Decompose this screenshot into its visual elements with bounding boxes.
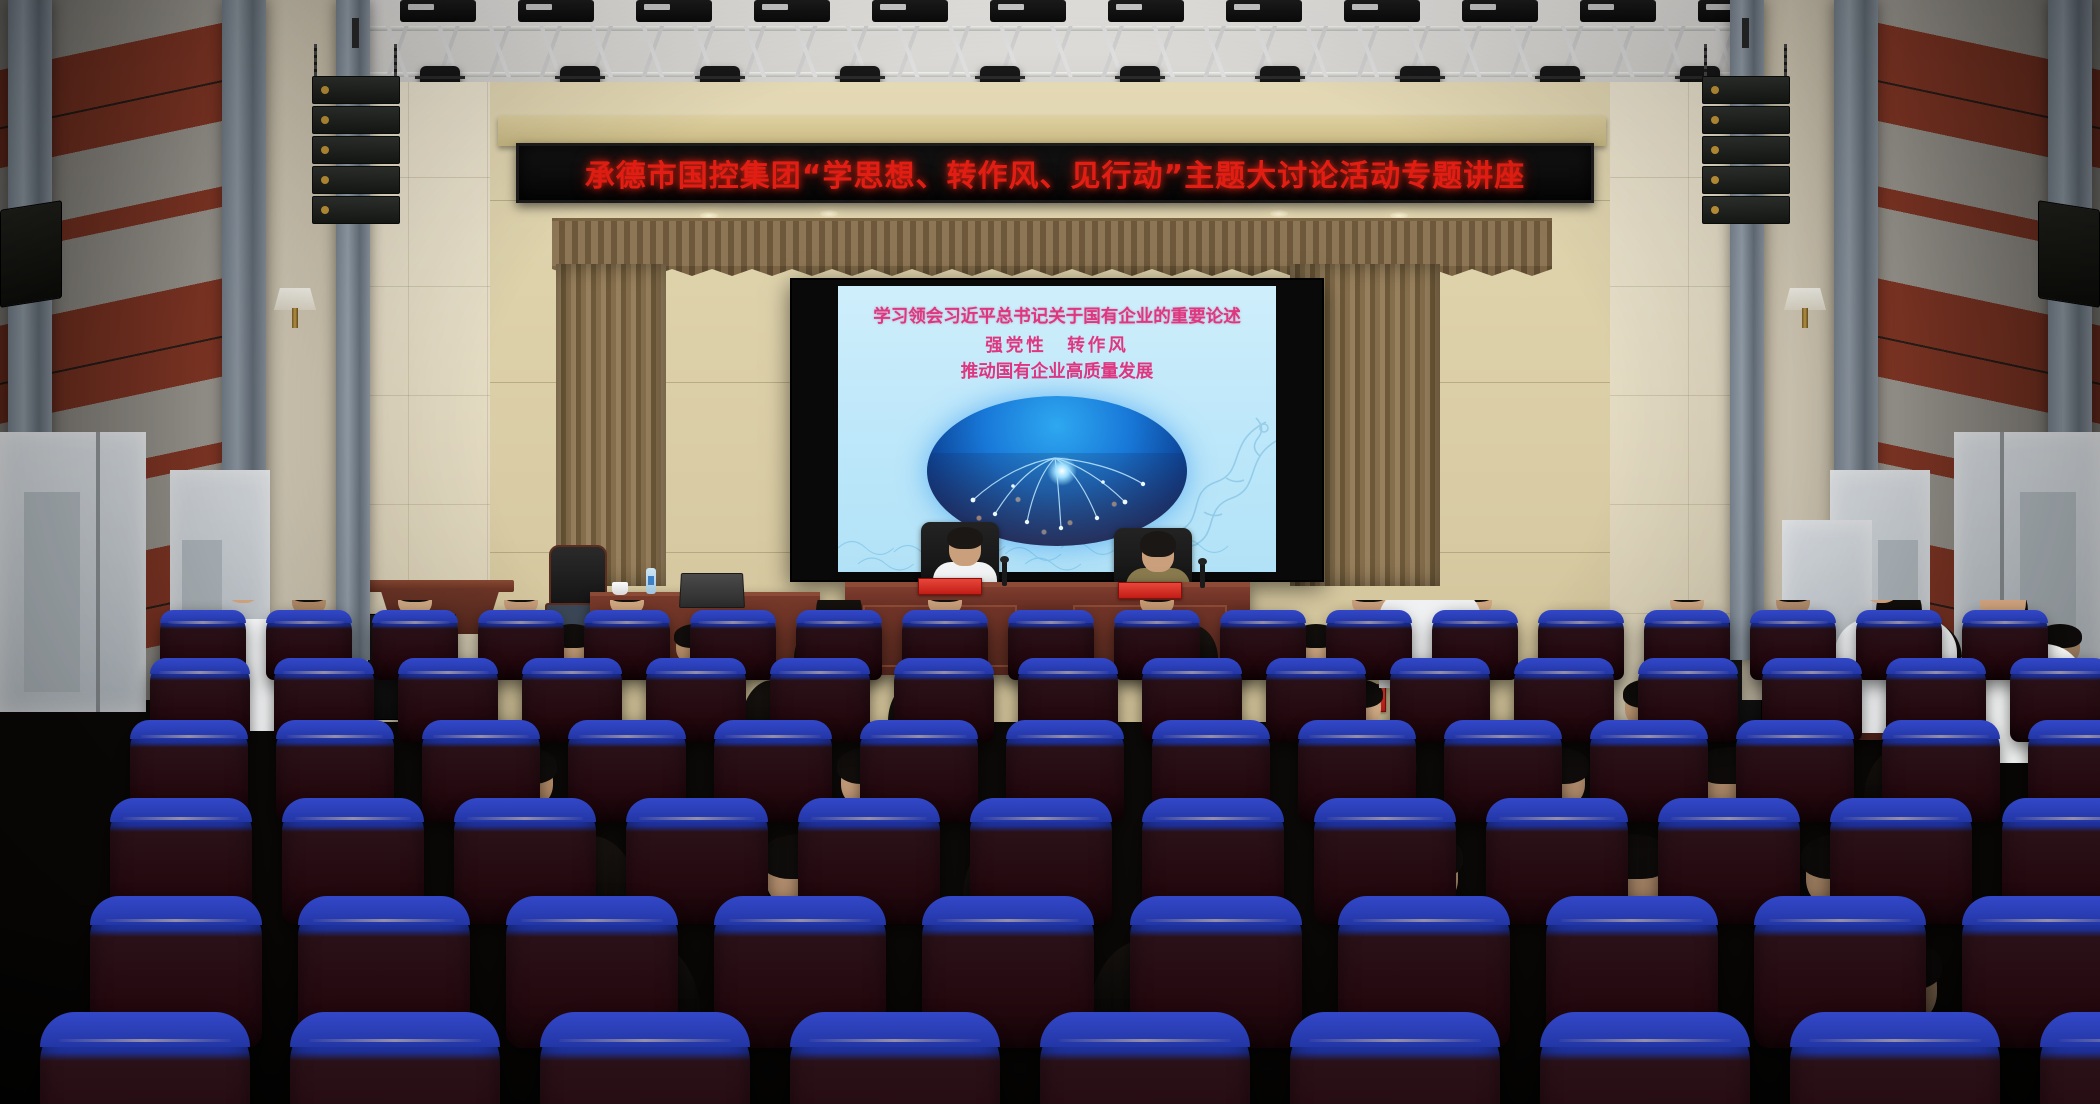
- chair-rim: [486, 621, 557, 624]
- audience-chair: [1040, 1012, 1250, 1104]
- chair-rim: [779, 671, 861, 674]
- speaker-right-hair: [1140, 531, 1176, 557]
- chair-rim: [105, 919, 246, 922]
- chair-rim: [1017, 735, 1114, 738]
- chair-rim: [729, 919, 870, 922]
- chair-rim: [1155, 817, 1271, 820]
- side-speaker-right: [2038, 200, 2100, 308]
- chair-rim: [2015, 817, 2100, 820]
- chair-rim: [1546, 621, 1617, 624]
- wall-sconce-right: [1778, 288, 1832, 328]
- chair-rim: [910, 621, 981, 624]
- chair-rim: [1864, 621, 1935, 624]
- audience-chair: [790, 1012, 1000, 1104]
- chair-rim: [1893, 735, 1990, 738]
- ceiling-spot-3: [1270, 210, 1288, 217]
- chair-rim: [1399, 671, 1481, 674]
- chair-rim: [1758, 621, 1829, 624]
- tea-cup: [612, 582, 628, 595]
- chair-rim: [1601, 735, 1698, 738]
- chair-rim: [592, 621, 663, 624]
- chair-rim: [1059, 1039, 1231, 1042]
- chair-rim: [295, 817, 411, 820]
- chair-rim: [283, 671, 365, 674]
- chair-rim: [1769, 919, 1910, 922]
- chair-rim: [141, 735, 238, 738]
- microphone-right: [1200, 562, 1205, 588]
- chair-rim: [168, 621, 239, 624]
- wall-sconce-left: [268, 288, 322, 328]
- audience-chair: [540, 1012, 750, 1104]
- chair-rim: [313, 919, 454, 922]
- chair-rim: [655, 671, 737, 674]
- chair-rim: [1353, 919, 1494, 922]
- chair-rim: [1145, 919, 1286, 922]
- chair-rim: [1334, 621, 1405, 624]
- slide-line-2: 强党性 转作风: [838, 332, 1276, 357]
- chair-rim: [579, 735, 676, 738]
- chair-rim: [159, 671, 241, 674]
- chair-rim: [1970, 621, 2041, 624]
- chair-rim: [1228, 621, 1299, 624]
- nameplate-left: [918, 578, 982, 595]
- chair-rim: [639, 817, 755, 820]
- chair-rim: [433, 735, 530, 738]
- chair-rim: [937, 919, 1078, 922]
- chair-rim: [1747, 735, 1844, 738]
- chair-rim: [1809, 1039, 1981, 1042]
- chair-rim: [407, 671, 489, 674]
- chair-rim: [309, 1039, 481, 1042]
- chair-rim: [1647, 671, 1729, 674]
- chair-rim: [811, 817, 927, 820]
- nameplate-right: [1118, 582, 1182, 599]
- curtain-valance: [552, 218, 1552, 267]
- chair-rim: [380, 621, 451, 624]
- chair-rim: [804, 621, 875, 624]
- chair-rim: [1455, 735, 1552, 738]
- audience-chair: [2040, 1012, 2100, 1104]
- water-bottle: [646, 568, 656, 594]
- auditorium-photo: 承德市国控集团“学思想、转作风、见行动”主题大讨论活动专题讲座: [0, 0, 2100, 1104]
- chair-rim: [287, 735, 384, 738]
- chair-rim: [1275, 671, 1357, 674]
- chair-rim: [809, 1039, 981, 1042]
- microphone-left: [1002, 560, 1007, 586]
- audience-chair: [40, 1012, 250, 1104]
- stage-curtain-left: [556, 264, 666, 586]
- chair-rim: [871, 735, 968, 738]
- audience-chair: [1790, 1012, 2000, 1104]
- chair-rim: [1327, 817, 1443, 820]
- chair-rim: [559, 1039, 731, 1042]
- chair-rim: [1652, 621, 1723, 624]
- audience-chair: [1290, 1012, 1500, 1104]
- chair-rim: [521, 919, 662, 922]
- audience-chair: [290, 1012, 500, 1104]
- chair-rim: [1977, 919, 2100, 922]
- chair-rim: [1523, 671, 1605, 674]
- chair-rim: [1309, 1039, 1481, 1042]
- audience-chair: [1540, 1012, 1750, 1104]
- presentation-slide: 学习领会习近平总书记关于国有企业的重要论述 强党性 转作风 推动国有企业高质量发…: [838, 286, 1276, 572]
- chair-rim: [725, 735, 822, 738]
- chair-rim: [2039, 735, 2100, 738]
- side-speaker-left: [0, 200, 62, 308]
- chair-rim: [1309, 735, 1406, 738]
- person-head: [222, 600, 264, 603]
- chair-rim: [531, 671, 613, 674]
- line-array-speaker-right: [1702, 44, 1788, 224]
- chair-rim: [1895, 671, 1977, 674]
- chair-rim: [1559, 1039, 1731, 1042]
- chair-rim: [1561, 919, 1702, 922]
- projection-screen: 学习领会习近平总书记关于国有企业的重要论述 强党性 转作风 推动国有企业高质量发…: [790, 278, 1324, 582]
- chair-rim: [467, 817, 583, 820]
- chair-rim: [59, 1039, 231, 1042]
- chair-rim: [983, 817, 1099, 820]
- led-banner-text: 承德市国控集团“学思想、转作风、见行动”主题大讨论活动专题讲座: [585, 151, 1525, 195]
- chair-rim: [1151, 671, 1233, 674]
- chair-rim: [1843, 817, 1959, 820]
- chair-rim: [1440, 621, 1511, 624]
- chair-rim: [1499, 817, 1615, 820]
- chair-rim: [1771, 671, 1853, 674]
- chair-rim: [123, 817, 239, 820]
- chair-rim: [698, 621, 769, 624]
- led-banner: 承德市国控集团“学思想、转作风、见行动”主题大讨论活动专题讲座: [516, 143, 1594, 203]
- audience-seating: [0, 600, 2100, 1104]
- banner-ledge: [498, 116, 1606, 146]
- chair-rim: [1122, 621, 1193, 624]
- chair-rim: [1027, 671, 1109, 674]
- chair-rim: [2059, 1039, 2100, 1042]
- line-array-speaker-left: [312, 44, 398, 224]
- speaker-left-hair: [947, 527, 983, 549]
- ceiling-spot-2: [820, 210, 838, 217]
- chair-rim: [903, 671, 985, 674]
- chair-rim: [2019, 671, 2100, 674]
- slide-line-3: 推动国有企业高质量发展: [838, 358, 1276, 383]
- chair-rim: [1016, 621, 1087, 624]
- chair-rim: [1163, 735, 1260, 738]
- chair-rim: [274, 621, 345, 624]
- slide-line-1: 学习领会习近平总书记关于国有企业的重要论述: [838, 306, 1276, 330]
- chair-rim: [1671, 817, 1787, 820]
